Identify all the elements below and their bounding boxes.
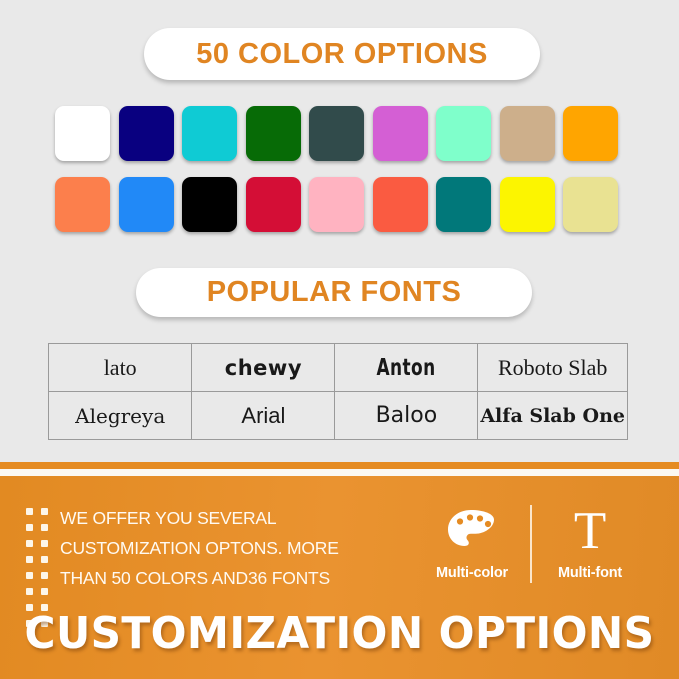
color-swatch-navy[interactable]: [119, 106, 174, 161]
font-cell-roboto-slab[interactable]: Roboto Slab: [478, 344, 628, 392]
dot-icon: [41, 540, 48, 547]
color-swatch-yellow[interactable]: [500, 177, 555, 232]
dot-icon: [41, 572, 48, 579]
feature-badges: Multi-color T Multi-font: [418, 505, 648, 583]
color-swatch-coral-orange[interactable]: [55, 177, 110, 232]
feature-multi-font: T Multi-font: [536, 505, 644, 581]
dot-icon: [26, 588, 33, 595]
font-cell-arial[interactable]: Arial: [192, 392, 335, 440]
color-swatch-teal[interactable]: [436, 177, 491, 232]
color-swatch-tomato[interactable]: [373, 177, 428, 232]
dot-icon: [26, 556, 33, 563]
font-cell-anton[interactable]: Anton: [335, 344, 478, 392]
letter-t-glyph: T: [574, 506, 606, 556]
color-swatch-orange[interactable]: [563, 106, 618, 161]
font-sample-arial: Arial: [241, 403, 285, 428]
palette-icon: [418, 505, 526, 557]
font-sample-anton: Anton: [377, 355, 436, 381]
feature-label-multi-font: Multi-font: [536, 565, 644, 581]
font-cell-lato[interactable]: lato: [49, 344, 192, 392]
dot-icon: [41, 508, 48, 515]
font-cell-baloo[interactable]: Baloo: [335, 392, 478, 440]
orange-accent-stripe: [0, 462, 679, 469]
fonts-table: lato chewy Anton Roboto Slab Alegreya Ar…: [48, 343, 628, 440]
popular-fonts-header: POPULAR FONTS: [136, 268, 532, 317]
feature-divider: [530, 505, 532, 583]
font-sample-roboto-slab: Roboto Slab: [498, 355, 607, 380]
font-sample-alegreya: Alegreya: [75, 404, 165, 428]
letter-t-icon: T: [536, 505, 644, 557]
dot-icon: [26, 524, 33, 531]
color-swatch-pale-yellow[interactable]: [563, 177, 618, 232]
dot-icon: [41, 588, 48, 595]
dot-icon: [26, 540, 33, 547]
banner-line-3: THAN 50 COLORS AND36 FONTS: [60, 563, 390, 593]
dot-icon: [26, 572, 33, 579]
font-cell-chewy[interactable]: chewy: [192, 344, 335, 392]
font-cell-alfa-slab-one[interactable]: Alfa Slab One: [478, 392, 628, 440]
color-swatch-black[interactable]: [182, 177, 237, 232]
banner-title: CUSTOMIZATION OPTIONS: [14, 608, 666, 659]
color-swatch-grid: [55, 106, 631, 248]
top-light-panel: 50 COLOR OPTIONS POPULAR FONTS: [0, 0, 679, 462]
color-swatch-tan[interactable]: [500, 106, 555, 161]
dot-icon: [41, 556, 48, 563]
font-cell-alegreya[interactable]: Alegreya: [49, 392, 192, 440]
font-sample-baloo: Baloo: [376, 403, 438, 428]
color-swatch-crimson[interactable]: [246, 177, 301, 232]
banner-line-1: WE OFFER YOU SEVERAL: [60, 503, 390, 533]
color-swatch-orchid[interactable]: [373, 106, 428, 161]
font-sample-alfa-slab-one: Alfa Slab One: [480, 405, 625, 427]
color-swatch-pink[interactable]: [309, 177, 364, 232]
dot-icon: [26, 508, 33, 515]
table-row: lato chewy Anton Roboto Slab: [49, 344, 628, 392]
color-swatch-turquoise[interactable]: [182, 106, 237, 161]
dot-icon: [41, 524, 48, 531]
font-sample-lato: lato: [104, 355, 137, 380]
font-sample-chewy: chewy: [225, 356, 302, 380]
color-swatch-mint[interactable]: [436, 106, 491, 161]
color-swatch-white[interactable]: [55, 106, 110, 161]
swatch-row: [55, 177, 631, 232]
feature-label-multi-color: Multi-color: [418, 565, 526, 581]
banner-line-2: CUSTOMIZATION OPTONS. MORE: [60, 533, 390, 563]
swatch-row: [55, 106, 631, 161]
table-row: Alegreya Arial Baloo Alfa Slab One: [49, 392, 628, 440]
color-swatch-azure-blue[interactable]: [119, 177, 174, 232]
banner-description: WE OFFER YOU SEVERAL CUSTOMIZATION OPTON…: [60, 503, 390, 593]
color-swatch-dark-green[interactable]: [246, 106, 301, 161]
feature-multi-color: Multi-color: [418, 505, 526, 581]
stripe-separator: [0, 469, 679, 476]
color-swatch-dark-slate[interactable]: [309, 106, 364, 161]
color-options-header: 50 COLOR OPTIONS: [144, 28, 540, 80]
